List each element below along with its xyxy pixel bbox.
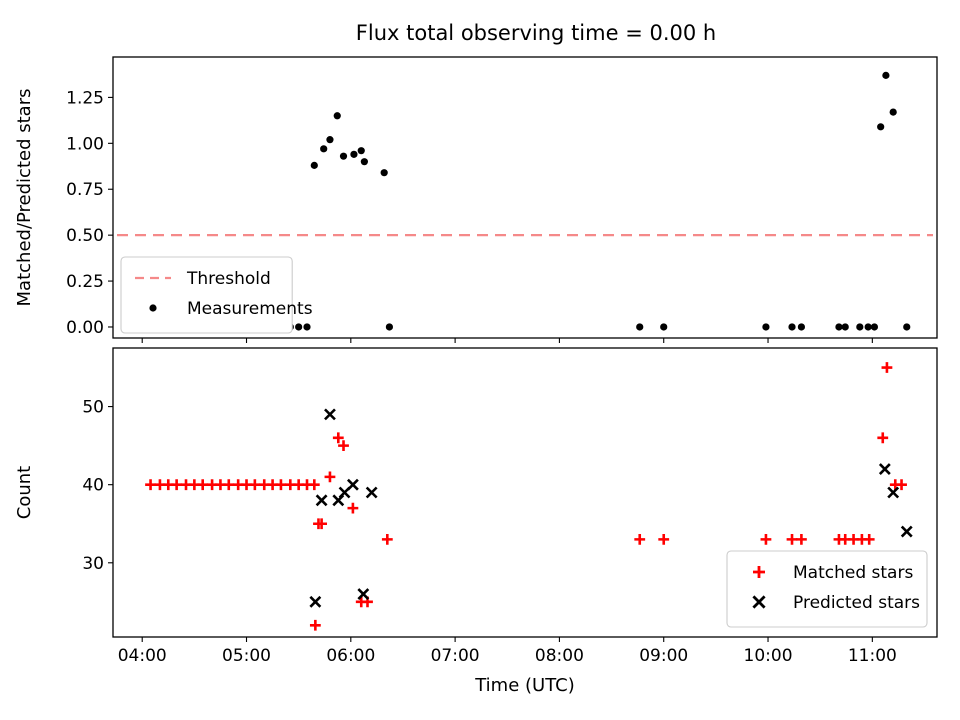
data-point-plus [223, 479, 234, 490]
data-point-dot [798, 323, 805, 330]
data-point-plus [864, 534, 875, 545]
x-tick-label: 07:00 [431, 646, 480, 666]
data-point-cross [880, 464, 890, 474]
y-tick-label: 0.50 [66, 226, 104, 246]
data-point-dot [320, 145, 327, 152]
data-point-plus [309, 479, 320, 490]
legend: ThresholdMeasurements [121, 257, 313, 333]
data-point-plus [145, 479, 156, 490]
x-tick-label: 05:00 [222, 646, 271, 666]
data-point-cross [325, 409, 335, 419]
x-tick-label: 08:00 [535, 646, 584, 666]
x-tick-label: 11:00 [848, 646, 897, 666]
legend-label: Threshold [186, 269, 271, 289]
data-point-cross [358, 589, 368, 599]
data-point-cross [367, 488, 377, 498]
data-point-plus [634, 534, 645, 545]
y-tick-label: 1.25 [66, 88, 104, 108]
y-tick-label: 0.25 [66, 272, 104, 292]
y-tick-label: 30 [82, 554, 104, 574]
data-point-plus [787, 534, 798, 545]
plot-canvas: Flux total observing time = 0.00 h 0.000… [0, 0, 960, 720]
x-tick-label: 06:00 [326, 646, 375, 666]
data-point-dot [350, 151, 357, 158]
data-point-dot [295, 323, 302, 330]
data-point-cross [317, 495, 327, 505]
data-point-dot [903, 323, 910, 330]
data-point-dot [334, 112, 341, 119]
data-point-plus [382, 534, 393, 545]
data-point-dot [386, 323, 393, 330]
data-point-dot [311, 162, 318, 169]
x-tick-label: 04:00 [118, 646, 167, 666]
data-point-dot [303, 323, 310, 330]
y-tick-label: 0.75 [66, 180, 104, 200]
data-point-dot [762, 323, 769, 330]
legend-label: Matched stars [793, 563, 913, 583]
data-point-cross [348, 480, 358, 490]
matplotlib-figure: Flux total observing time = 0.00 h 0.000… [0, 0, 960, 720]
data-point-plus [171, 479, 182, 490]
data-point-plus [877, 432, 888, 443]
data-point-dot [856, 323, 863, 330]
data-point-dot [882, 72, 889, 79]
legend-dot-swatch [149, 304, 156, 311]
data-point-dot [842, 323, 849, 330]
data-point-plus [882, 362, 893, 373]
data-point-plus [658, 534, 669, 545]
data-point-plus [249, 479, 260, 490]
y-tick-label: 1.00 [66, 134, 104, 154]
data-point-dot [660, 323, 667, 330]
data-point-dot [788, 323, 795, 330]
data-point-plus [276, 479, 287, 490]
y-tick-label: 0.00 [66, 318, 104, 338]
data-point-plus [796, 534, 807, 545]
y-axis-label: Count [14, 466, 35, 519]
data-point-plus [761, 534, 772, 545]
data-point-dot [361, 158, 368, 165]
figure-title: Flux total observing time = 0.00 h [356, 21, 716, 45]
data-point-plus [310, 620, 321, 631]
bottom-panel: 30405004:0005:0006:0007:0008:0009:0010:0… [14, 348, 937, 696]
data-point-dot [358, 147, 365, 154]
x-tick-label: 09:00 [639, 646, 688, 666]
legend-label: Measurements [187, 299, 313, 319]
data-point-dot [636, 323, 643, 330]
data-point-dot [340, 153, 347, 160]
data-point-dot [890, 108, 897, 115]
x-axis-label: Time (UTC) [474, 675, 575, 696]
data-point-plus [338, 440, 349, 451]
data-point-cross [310, 597, 320, 607]
data-point-plus [333, 432, 344, 443]
x-tick-label: 10:00 [744, 646, 793, 666]
data-point-plus [325, 471, 336, 482]
data-point-dot [877, 123, 884, 130]
top-panel: 0.000.250.500.751.001.25Matched/Predicte… [14, 57, 937, 343]
y-tick-label: 40 [82, 476, 104, 496]
y-tick-label: 50 [82, 398, 104, 418]
data-point-plus [347, 503, 358, 514]
legend-label: Predicted stars [793, 593, 920, 613]
legend: Matched starsPredicted stars [727, 551, 927, 627]
data-point-dot [835, 323, 842, 330]
data-point-dot [381, 169, 388, 176]
data-point-dot [326, 136, 333, 143]
data-point-cross [888, 488, 898, 498]
data-point-dot [871, 323, 878, 330]
data-point-dot [865, 323, 872, 330]
data-point-cross [902, 527, 912, 537]
y-axis-label: Matched/Predicted stars [14, 89, 35, 307]
data-point-plus [197, 479, 208, 490]
